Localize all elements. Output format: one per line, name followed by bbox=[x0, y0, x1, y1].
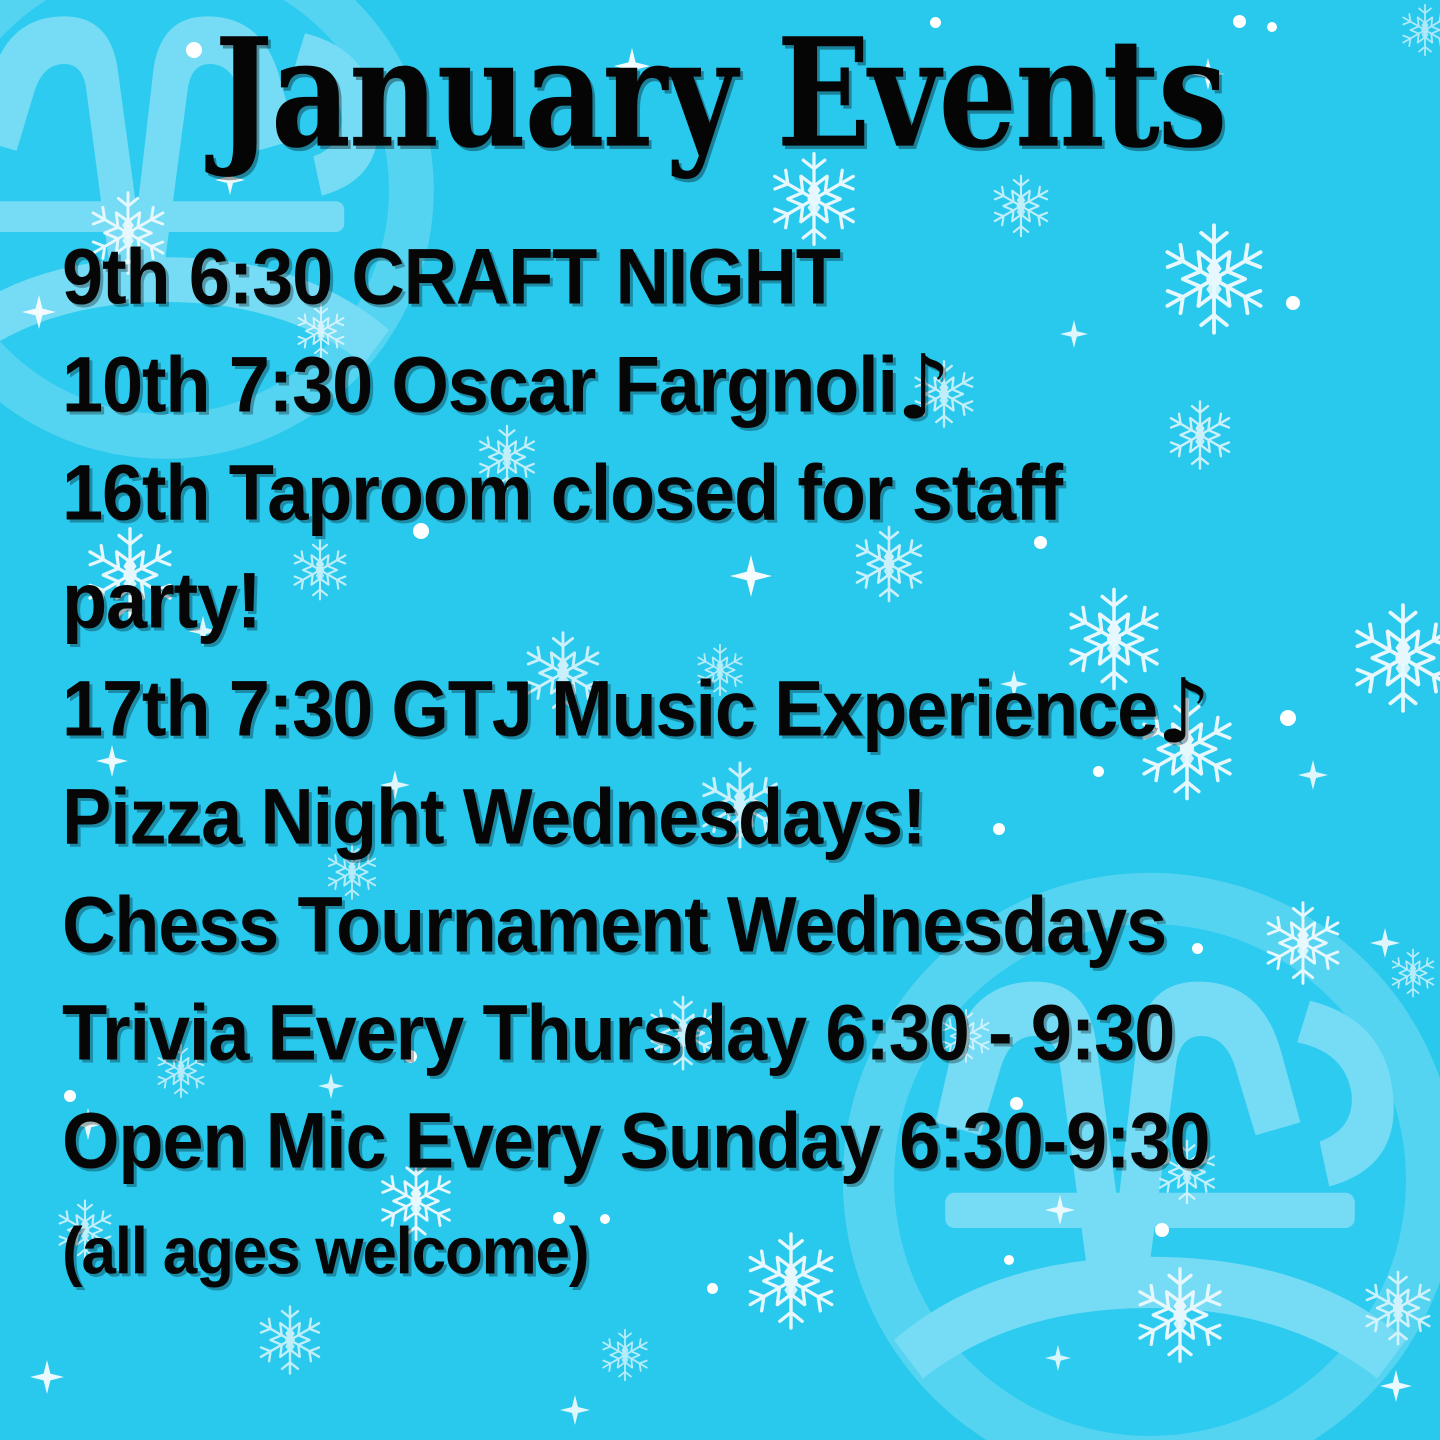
event-text: party! bbox=[62, 556, 260, 644]
event-text: Pizza Night Wednesdays! bbox=[62, 772, 925, 860]
event-line-craft-night: 9th 6:30 CRAFT NIGHT bbox=[62, 221, 1432, 335]
event-text: Trivia Every Thursday 6:30 - 9:30 bbox=[62, 988, 1174, 1076]
event-line-open-mic: Open Mic Every Sunday 6:30-9:30 bbox=[62, 1085, 1432, 1199]
event-text: Chess Tournament Wednesdays bbox=[62, 880, 1166, 968]
events-list: 9th 6:30 CRAFT NIGHT 10th 7:30 Oscar Far… bbox=[62, 224, 1432, 1305]
january-events-poster: January Events 9th 6:30 CRAFT NIGHT 10th… bbox=[0, 0, 1440, 1440]
event-line-gtj-music: 17th 7:30 GTJ Music Experience♪ bbox=[62, 653, 1432, 767]
event-line-taproom-closed-2: party! bbox=[62, 545, 1432, 659]
event-text: Open Mic Every Sunday 6:30-9:30 bbox=[62, 1096, 1209, 1184]
event-line-taproom-closed: 16th Taproom closed for staff bbox=[62, 437, 1432, 551]
event-text: 16th Taproom closed for staff bbox=[62, 448, 1062, 536]
event-text: 10th 7:30 Oscar Fargnoli bbox=[62, 340, 897, 428]
event-line-trivia: Trivia Every Thursday 6:30 - 9:30 bbox=[62, 977, 1432, 1091]
event-text: (all ages welcome) bbox=[62, 1215, 588, 1288]
event-line-pizza-night: Pizza Night Wednesdays! bbox=[62, 761, 1432, 875]
event-line-all-ages: (all ages welcome) bbox=[62, 1193, 1432, 1309]
music-note-icon: ♪ bbox=[1157, 659, 1211, 763]
event-line-chess-tournament: Chess Tournament Wednesdays bbox=[62, 869, 1432, 983]
event-text: 17th 7:30 GTJ Music Experience bbox=[62, 664, 1157, 752]
event-text: 9th 6:30 CRAFT NIGHT bbox=[62, 232, 840, 320]
event-line-oscar-fargnoli: 10th 7:30 Oscar Fargnoli♪ bbox=[62, 329, 1432, 443]
page-title: January Events bbox=[58, 18, 1383, 168]
music-note-icon: ♪ bbox=[897, 335, 951, 439]
poster-content: January Events 9th 6:30 CRAFT NIGHT 10th… bbox=[0, 0, 1440, 1440]
